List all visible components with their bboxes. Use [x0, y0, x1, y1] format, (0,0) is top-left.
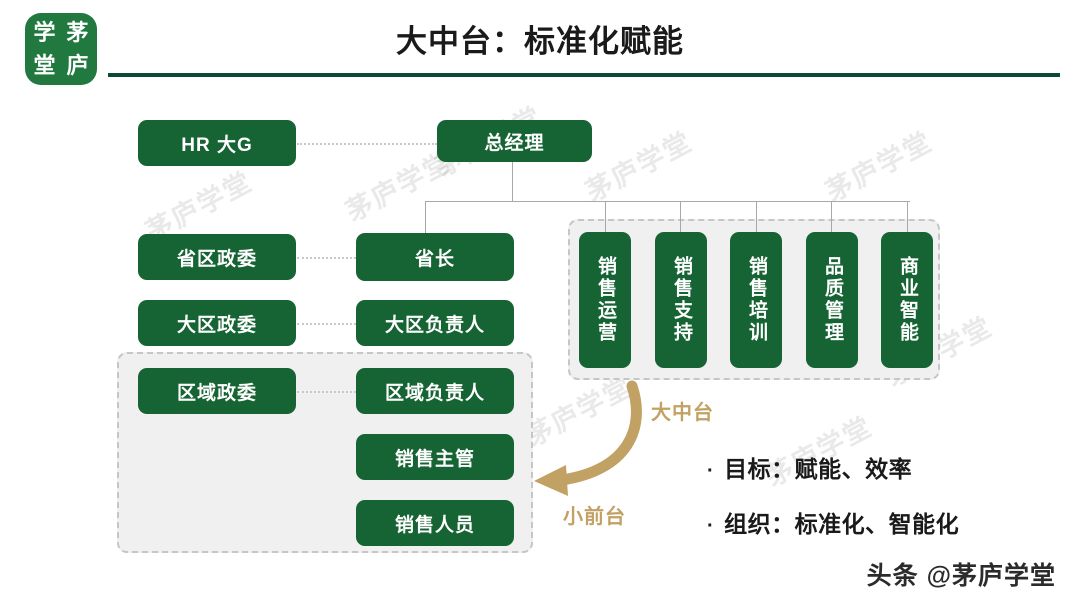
- org-box-label: 销售主管: [395, 444, 475, 471]
- org-box-shengqu-zhengwei[interactable]: 省区政委: [138, 234, 296, 280]
- slide-canvas: 茅庐学堂 茅庐学堂 茅庐学堂 茅庐学堂 茅庐学堂 茅庐学堂 茅庐学堂 茅庐学堂 …: [0, 0, 1080, 602]
- footer-watermark: 头条 @茅庐学堂: [867, 556, 1056, 592]
- org-box-label: 区域政委: [177, 378, 257, 405]
- connector-drop-unit-4: [907, 201, 908, 232]
- connector-dotted-hrdag-gm: [297, 143, 437, 145]
- arrow-label-front-stage: 小前台: [563, 500, 626, 529]
- connector-dotted-shengqu-shengzhang: [297, 257, 356, 259]
- bullet-marker: ·: [707, 515, 714, 537]
- org-box-daqu-zhengwei[interactable]: 大区政委: [138, 300, 296, 346]
- unit-label: 销售运营: [595, 256, 615, 344]
- bullet-item: ·目标：赋能、效率: [707, 450, 912, 484]
- bullet-item: ·组织：标准化、智能化: [707, 505, 959, 539]
- middle-stage-unit-business-intelligence[interactable]: 商业智能: [881, 232, 933, 368]
- org-box-label: 省区政委: [177, 244, 257, 271]
- title-divider-rule: [108, 73, 1060, 77]
- org-box-label: 区域负责人: [385, 378, 485, 405]
- curved-arrow-icon: [500, 370, 660, 510]
- watermark-tile: 茅庐学堂: [578, 120, 699, 209]
- arrow-label-middle-stage: 大中台: [651, 396, 714, 425]
- org-box-label: 大区负责人: [385, 310, 485, 337]
- org-box-label: 总经理: [484, 128, 544, 155]
- connector-drop-unit-2: [756, 201, 757, 232]
- unit-label: 品质管理: [822, 256, 842, 344]
- unit-label: 销售支持: [671, 256, 691, 344]
- middle-stage-unit-sales-support[interactable]: 销售支持: [655, 232, 707, 368]
- org-box-quyu-fuzeren[interactable]: 区域负责人: [356, 368, 514, 414]
- watermark-tile: 茅庐学堂: [818, 120, 939, 209]
- org-box-label: 销售人员: [395, 510, 475, 537]
- org-box-quyu-zhengwei[interactable]: 区域政委: [138, 368, 296, 414]
- unit-label: 销售培训: [746, 256, 766, 344]
- org-box-zongjingli[interactable]: 总经理: [437, 120, 592, 162]
- org-box-xiaoshou-renyuan[interactable]: 销售人员: [356, 500, 514, 546]
- org-box-shengzhang[interactable]: 省长: [356, 233, 514, 281]
- org-box-daqu-fuzeren[interactable]: 大区负责人: [356, 300, 514, 346]
- org-box-hr-dag[interactable]: HR 大G: [138, 120, 296, 166]
- connector-horizontal-bus: [425, 201, 910, 202]
- org-box-label: 大区政委: [177, 310, 257, 337]
- page-title: 大中台：标准化赋能: [0, 16, 1080, 61]
- connector-drop-unit-0: [605, 201, 606, 232]
- connector-gm-trunk: [512, 161, 513, 201]
- connector-dotted-daqu-daqufuzeren: [297, 323, 356, 325]
- org-box-xiaoshou-zhuguan[interactable]: 销售主管: [356, 434, 514, 480]
- bullet-text: 目标：赋能、效率: [724, 456, 912, 482]
- org-box-label: 省长: [415, 244, 455, 271]
- connector-drop-shengzhang: [425, 201, 426, 233]
- middle-stage-unit-quality-management[interactable]: 品质管理: [806, 232, 858, 368]
- connector-dotted-quyu-quyufuzeren: [297, 391, 356, 393]
- org-box-label: HR 大G: [181, 130, 253, 157]
- connector-drop-unit-3: [831, 201, 832, 232]
- connector-drop-unit-1: [680, 201, 681, 232]
- middle-stage-unit-sales-training[interactable]: 销售培训: [730, 232, 782, 368]
- bullet-text: 组织：标准化、智能化: [724, 511, 959, 537]
- middle-stage-unit-sales-operations[interactable]: 销售运营: [579, 232, 631, 368]
- bullet-marker: ·: [707, 460, 714, 482]
- unit-label: 商业智能: [897, 256, 917, 344]
